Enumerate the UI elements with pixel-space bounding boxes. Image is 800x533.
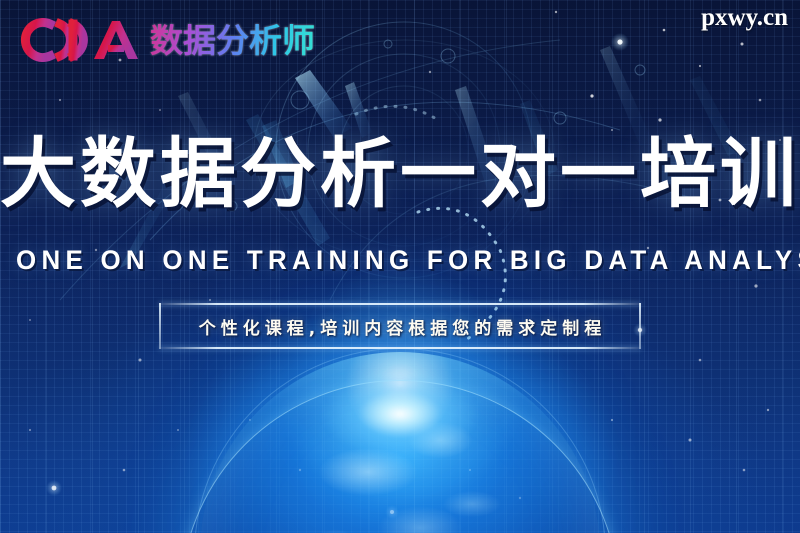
page-subtitle-english: ONE ON ONE TRAINING FOR BIG DATA ANALYSI… bbox=[16, 245, 784, 276]
page-title: 大数据分析一对一培训 bbox=[0, 136, 800, 212]
promo-banner: 数据分析师 pxwy.cn 大数据分析一对一培训 ONE ON ONE TRAI… bbox=[0, 0, 800, 533]
tagline-bar: 个性化课程,培训内容根据您的需求定制程 bbox=[159, 303, 641, 349]
site-watermark: pxwy.cn bbox=[701, 4, 788, 32]
cda-logo-icon bbox=[16, 15, 144, 65]
logo-chinese-text: 数据分析师 bbox=[146, 24, 315, 57]
cda-logo[interactable]: 数据分析师 bbox=[16, 14, 315, 66]
tagline-text: 个性化课程,培训内容根据您的需求定制程 bbox=[159, 303, 641, 349]
